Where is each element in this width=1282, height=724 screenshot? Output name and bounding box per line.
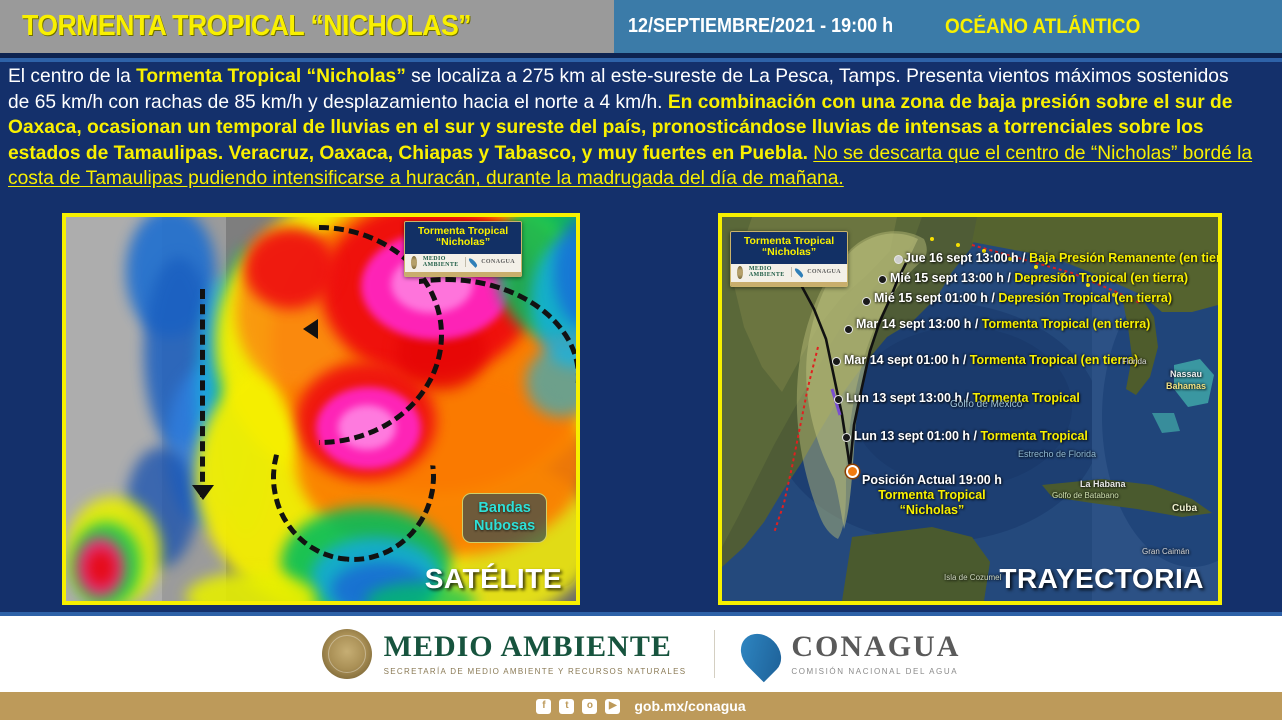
map-label-nassau: Nassau bbox=[1170, 369, 1202, 380]
track-point-mie15-13 bbox=[878, 275, 887, 284]
track-label-jue16-sep: / bbox=[1019, 251, 1029, 265]
tra-badge-title-block: Tormenta Tropical “Nicholas” bbox=[731, 232, 847, 264]
track-label-mar14-01: Mar 14 sept 01:00 h / Tormenta Tropical … bbox=[844, 353, 1138, 368]
current-position-label: Posición Actual 19:00 h Tormenta Tropica… bbox=[862, 473, 1002, 517]
track-label-mie15-01-sep: / bbox=[988, 291, 998, 305]
map-label-cuba: Cuba bbox=[1172, 503, 1197, 515]
mexico-seal-icon bbox=[411, 256, 417, 269]
track-label-lun13-01-time: Lun 13 sept 01:00 h bbox=[854, 429, 970, 443]
satellite-panel: Tormenta Tropical “Nicholas” MEDIO AMBIE… bbox=[62, 213, 580, 605]
map-label-bahamas-text: Bahamas bbox=[1166, 381, 1206, 391]
track-label-mar14-01-status: Tormenta Tropical (en tierra) bbox=[970, 353, 1139, 367]
footer-divider bbox=[714, 630, 715, 678]
conagua-water-drop-icon bbox=[733, 626, 790, 683]
badge-conagua-label: CONAGUA bbox=[481, 259, 515, 265]
callout-bandas-line1: Bandas bbox=[474, 500, 535, 518]
badge-title-line2: “Nicholas” bbox=[415, 237, 511, 248]
twitter-icon[interactable]: t bbox=[559, 699, 574, 714]
map-label-caiman-text: Gran Caimán bbox=[1142, 547, 1190, 556]
conagua-text-block: CONAGUA COMISIÓN NACIONAL DEL AGUA bbox=[791, 632, 960, 676]
map-label-estrecho: Estrecho de Florida bbox=[1018, 449, 1096, 460]
trajectory-map: Jue 16 sept 13:00 h / Baja Presión Reman… bbox=[722, 217, 1218, 601]
bulletin-seg-1: El centro de la bbox=[8, 65, 136, 87]
satellite-logo-badge: Tormenta Tropical “Nicholas” MEDIO AMBIE… bbox=[404, 221, 522, 277]
map-label-cozumel: Isla de Cozumel bbox=[944, 573, 1001, 582]
track-label-mie15-01: Mié 15 sept 01:00 h / Depresión Tropical… bbox=[874, 291, 1172, 306]
tra-badge-title-line2: “Nicholas” bbox=[741, 247, 837, 258]
conagua-subtitle: COMISIÓN NACIONAL DEL AGUA bbox=[791, 667, 960, 676]
map-label-batabano: Golfo de Batabano bbox=[1052, 491, 1119, 500]
trajectory-logo-badge: Tormenta Tropical “Nicholas” MEDIO AMBIE… bbox=[730, 231, 848, 287]
mexico-seal-icon bbox=[737, 266, 743, 279]
track-label-jue16-time: Jue 16 sept 13:00 h bbox=[904, 251, 1019, 265]
track-label-mar14-13-sep: / bbox=[971, 317, 981, 331]
medio-ambiente-logo: MEDIO AMBIENTE SECRETARÍA DE MEDIO AMBIE… bbox=[322, 629, 687, 679]
current-position-marker bbox=[846, 465, 859, 478]
map-label-florida: Florida bbox=[1122, 357, 1146, 366]
youtube-icon[interactable]: ▶ bbox=[605, 699, 620, 714]
map-label-habana: La Habana bbox=[1080, 479, 1126, 490]
track-label-mie15-01-status: Depresión Tropical (en tierra) bbox=[998, 291, 1172, 305]
track-point-mar14-01 bbox=[832, 357, 841, 366]
track-point-jue16 bbox=[894, 255, 903, 264]
conagua-title: CONAGUA bbox=[791, 632, 960, 662]
track-label-mie15-13-status: Depresión Tropical (en tierra) bbox=[1014, 271, 1188, 285]
trajectory-panel-caption: TRAYECTORIA bbox=[999, 563, 1204, 595]
bulletin-region: OCÉANO ATLÁNTICO bbox=[945, 15, 1140, 39]
trajectory-panel: Jue 16 sept 13:00 h / Baja Presión Reman… bbox=[718, 213, 1222, 605]
bulletin-storm-name: Tormenta Tropical “Nicholas” bbox=[136, 65, 406, 87]
header-title-block: TORMENTA TROPICAL “NICHOLAS” bbox=[0, 0, 614, 53]
page-title: TORMENTA TROPICAL “NICHOLAS” bbox=[22, 10, 471, 43]
tra-badge-conagua-label: CONAGUA bbox=[807, 269, 841, 275]
track-label-lun13-01-status: Tormenta Tropical bbox=[980, 429, 1087, 443]
map-label-bahamas: Bahamas bbox=[1166, 381, 1206, 392]
map-label-cozumel-text: Isla de Cozumel bbox=[944, 573, 1001, 582]
track-label-mie15-13: Mié 15 sept 13:00 h / Depresión Tropical… bbox=[890, 271, 1188, 286]
satellite-image: Tormenta Tropical “Nicholas” MEDIO AMBIE… bbox=[66, 217, 576, 601]
tra-badge-medio-ambiente-label: MEDIO AMBIENTE bbox=[749, 266, 785, 278]
map-label-habana-text: La Habana bbox=[1080, 479, 1126, 489]
track-label-mar14-13-time: Mar 14 sept 13:00 h bbox=[856, 317, 971, 331]
footer-url-link[interactable]: gob.mx/conagua bbox=[634, 698, 745, 714]
track-point-lun13-13 bbox=[834, 395, 843, 404]
callout-bandas-nubosas: Bandas Nubosas bbox=[462, 493, 547, 543]
track-label-mar14-01-sep: / bbox=[959, 353, 969, 367]
current-position-line3: “Nicholas” bbox=[862, 503, 1002, 518]
track-label-jue16-status: Baja Presión Remanente (en tierra) bbox=[1029, 251, 1222, 265]
badge-gold-bar bbox=[405, 272, 521, 276]
header-meta-block: 12/SEPTIEMBRE/2021 - 19:00 h OCÉANO ATLÁ… bbox=[614, 0, 1282, 53]
water-drop-icon bbox=[794, 267, 805, 278]
conagua-logo: CONAGUA COMISIÓN NACIONAL DEL AGUA bbox=[743, 632, 960, 676]
current-position-line2: Tormenta Tropical bbox=[862, 488, 1002, 503]
track-label-jue16: Jue 16 sept 13:00 h / Baja Presión Reman… bbox=[904, 251, 1222, 266]
tra-badge-gold-bar bbox=[731, 282, 847, 286]
map-label-nassau-text: Nassau bbox=[1170, 369, 1202, 379]
medio-ambiente-title: MEDIO AMBIENTE bbox=[384, 632, 687, 662]
badge-logos: MEDIO AMBIENTE CONAGUA bbox=[405, 254, 521, 272]
footer-social-bar: f t o ▶ gob.mx/conagua bbox=[0, 692, 1282, 720]
track-point-mie15-01 bbox=[862, 297, 871, 306]
footer-bottom-strip bbox=[0, 720, 1282, 724]
track-label-lun13-13-time: Lun 13 sept 13:00 h bbox=[846, 391, 962, 405]
header-rule-blue bbox=[0, 58, 1282, 62]
satellite-panel-caption: SATÉLITE bbox=[425, 563, 562, 595]
badge-title-block: Tormenta Tropical “Nicholas” bbox=[405, 222, 521, 254]
track-label-mie15-01-time: Mié 15 sept 01:00 h bbox=[874, 291, 988, 305]
track-label-mie15-13-time: Mié 15 sept 13:00 h bbox=[890, 271, 1004, 285]
badge-medio-ambiente-label: MEDIO AMBIENTE bbox=[423, 256, 459, 268]
page-header: TORMENTA TROPICAL “NICHOLAS” 12/SEPTIEMB… bbox=[0, 0, 1282, 53]
band-arrow-mid bbox=[303, 319, 318, 339]
current-position-line1: Posición Actual 19:00 h bbox=[862, 473, 1002, 488]
cloud-band-annotation-vertical bbox=[200, 289, 205, 497]
map-label-florida-text: Florida bbox=[1122, 357, 1146, 366]
track-point-mar14-13 bbox=[844, 325, 853, 334]
instagram-icon[interactable]: o bbox=[582, 699, 597, 714]
track-label-lun13-01-sep: / bbox=[970, 429, 980, 443]
track-label-mar14-01-time: Mar 14 sept 01:00 h bbox=[844, 353, 959, 367]
medio-ambiente-text-block: MEDIO AMBIENTE SECRETARÍA DE MEDIO AMBIE… bbox=[384, 632, 687, 676]
map-label-caiman: Gran Caimán bbox=[1142, 547, 1190, 556]
medio-ambiente-subtitle: SECRETARÍA DE MEDIO AMBIENTE Y RECURSOS … bbox=[384, 667, 687, 676]
track-label-mar14-13-status: Tormenta Tropical (en tierra) bbox=[982, 317, 1151, 331]
tra-badge-logos: MEDIO AMBIENTE CONAGUA bbox=[731, 264, 847, 282]
map-label-estrecho-text: Estrecho de Florida bbox=[1018, 449, 1096, 459]
track-label-mar14-13: Mar 14 sept 13:00 h / Tormenta Tropical … bbox=[856, 317, 1150, 332]
map-label-golfo: Golfo de México bbox=[950, 399, 1022, 411]
callout-bandas-line2: Nubosas bbox=[474, 518, 535, 536]
facebook-icon[interactable]: f bbox=[536, 699, 551, 714]
track-label-lun13-01: Lun 13 sept 01:00 h / Tormenta Tropical bbox=[854, 429, 1088, 444]
footer-logos: MEDIO AMBIENTE SECRETARÍA DE MEDIO AMBIE… bbox=[0, 616, 1282, 692]
map-label-cuba-text: Cuba bbox=[1172, 503, 1197, 514]
map-label-batabano-text: Golfo de Batabano bbox=[1052, 491, 1119, 500]
water-drop-icon bbox=[468, 257, 479, 268]
bulletin-text: El centro de la Tormenta Tropical “Nicho… bbox=[8, 64, 1255, 192]
bulletin-datetime: 12/SEPTIEMBRE/2021 - 19:00 h bbox=[628, 15, 893, 38]
track-point-lun13-01 bbox=[842, 433, 851, 442]
band-arrow-left bbox=[192, 485, 214, 500]
mexico-national-seal-icon bbox=[322, 629, 372, 679]
track-label-mie15-13-sep: / bbox=[1004, 271, 1014, 285]
map-label-golfo-text: Golfo de México bbox=[950, 399, 1022, 410]
